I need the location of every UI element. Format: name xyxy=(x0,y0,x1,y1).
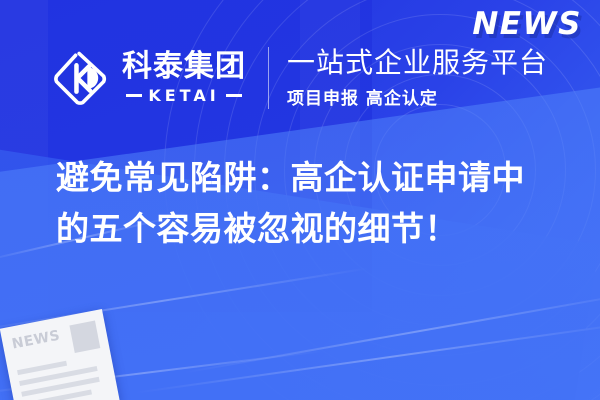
newspaper-title: NEWS xyxy=(11,325,73,352)
brand-name-en: KETAI xyxy=(148,86,219,105)
headline-text: 避免常见陷阱：高企认证申请中的五个容易被忽视的细节！ xyxy=(56,152,556,254)
dash-right-icon xyxy=(226,94,242,97)
brand-name-cn: 科泰集团 xyxy=(122,51,246,83)
banner-header: 科泰集团 KETAI 一站式企业服务平台 项目申报 高企认定 xyxy=(0,38,600,118)
news-badge: NEWS xyxy=(472,6,582,42)
brand-wordmark: 科泰集团 KETAI xyxy=(122,51,246,105)
brand-name-en-row: KETAI xyxy=(126,86,241,105)
header-divider xyxy=(268,47,269,109)
dash-left-icon xyxy=(126,94,142,97)
newspaper-header: NEWS xyxy=(11,320,101,364)
news-banner: NEWS 科泰集团 KETAI xyxy=(0,0,600,400)
tagline-main: 一站式企业服务平台 xyxy=(287,47,548,78)
brand-logo[interactable]: 科泰集团 KETAI xyxy=(52,49,246,107)
tagline-block: 一站式企业服务平台 项目申报 高企认定 xyxy=(287,47,548,108)
newspaper-thumbnail-block xyxy=(69,320,100,352)
ketai-kp-monogram-icon xyxy=(52,49,110,107)
tagline-sub: 项目申报 高企认定 xyxy=(287,84,548,109)
